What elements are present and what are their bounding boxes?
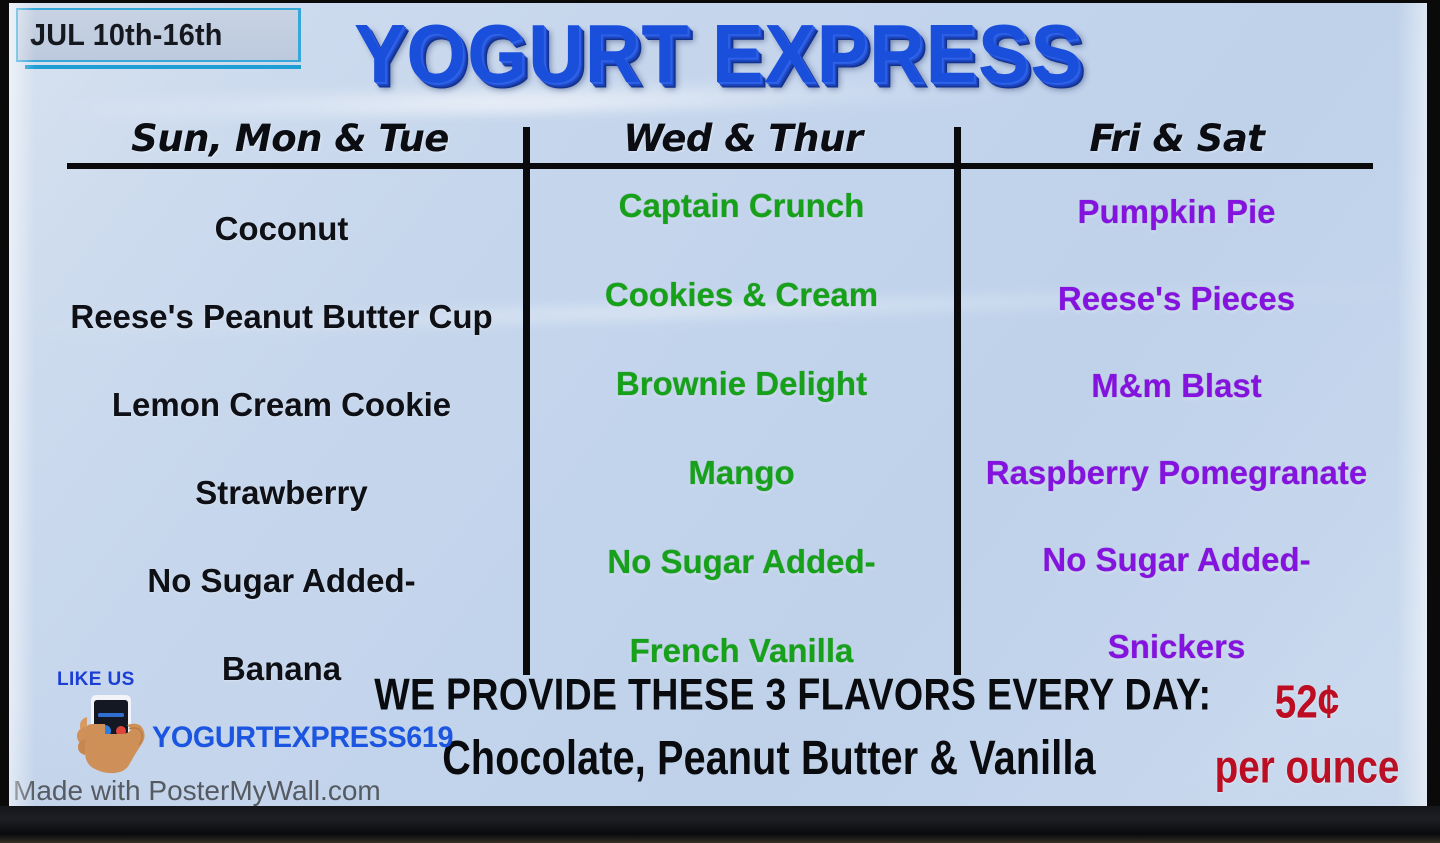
- column-header-wed-thur: Wed & Thur: [537, 113, 949, 165]
- flavor-item: No Sugar Added-: [534, 545, 949, 578]
- everyday-flavors-heading: WE PROVIDE THESE 3 FLAVORS EVERY DAY:: [374, 668, 1164, 722]
- flavor-item: No Sugar Added-: [49, 564, 514, 597]
- flavor-item: Snickers: [964, 630, 1389, 663]
- everyday-flavors-list: Chocolate, Peanut Butter & Vanilla: [374, 728, 1164, 787]
- header-horizontal-rule: [67, 163, 1373, 169]
- flavor-item: Captain Crunch: [534, 189, 949, 222]
- flavor-item: No Sugar Added-: [964, 543, 1389, 576]
- board-title-text: YOGURT EXPRESS: [354, 10, 1083, 97]
- flavor-item: Lemon Cream Cookie: [49, 388, 514, 421]
- postermywall-credit: Made with PosterMyWall.com: [13, 775, 381, 806]
- flavor-column-fri-sat: Pumpkin Pie Reese's Pieces M&m Blast Ras…: [964, 173, 1389, 717]
- flavor-item: M&m Blast: [964, 369, 1389, 402]
- tv-screen-frame: JUL 10th-16th YOGURT EXPRESS Sun, Mon & …: [0, 0, 1440, 843]
- price-unit: per ounce: [1200, 741, 1413, 794]
- poster-left-sheen: [9, 3, 35, 806]
- flavor-item: Raspberry Pomegranate: [964, 456, 1389, 489]
- flavor-column-wed-thur: Captain Crunch Cookies & Cream Brownie D…: [534, 173, 949, 723]
- price-amount: 52¢: [1200, 677, 1413, 728]
- flavor-item: Brownie Delight: [534, 367, 949, 400]
- like-us-label: LIKE US: [57, 669, 135, 691]
- column-divider-2: [954, 127, 961, 675]
- flavor-item: French Vanilla: [534, 634, 949, 667]
- flavor-column-sun-mon-tue: Coconut Reese's Peanut Butter Cup Lemon …: [49, 173, 514, 740]
- social-handle[interactable]: YOGURTEXPRESS619: [152, 721, 453, 755]
- column-header-fri-sat: Fri & Sat: [967, 113, 1387, 165]
- menu-board-poster: JUL 10th-16th YOGURT EXPRESS Sun, Mon & …: [9, 3, 1427, 806]
- hand-holding-phone-icon: [71, 691, 157, 775]
- board-title: YOGURT EXPRESS: [9, 15, 1427, 93]
- flavor-item: Pumpkin Pie: [964, 195, 1389, 228]
- everyday-flavors-banner: WE PROVIDE THESE 3 FLAVORS EVERY DAY: Ch…: [349, 671, 1189, 784]
- column-divider-1: [523, 127, 530, 675]
- flavor-item: Strawberry: [49, 476, 514, 509]
- tv-stand-reflection: [0, 834, 1440, 843]
- price-block: 52¢ per ounce: [1191, 679, 1423, 791]
- column-header-sun-mon-tue: Sun, Mon & Tue: [61, 113, 519, 165]
- flavor-item: Coconut: [49, 212, 514, 245]
- flavor-item: Mango: [534, 456, 949, 489]
- flavor-item: Cookies & Cream: [534, 278, 949, 311]
- flavor-item: Reese's Pieces: [964, 282, 1389, 315]
- flavor-item: Reese's Peanut Butter Cup: [49, 300, 514, 333]
